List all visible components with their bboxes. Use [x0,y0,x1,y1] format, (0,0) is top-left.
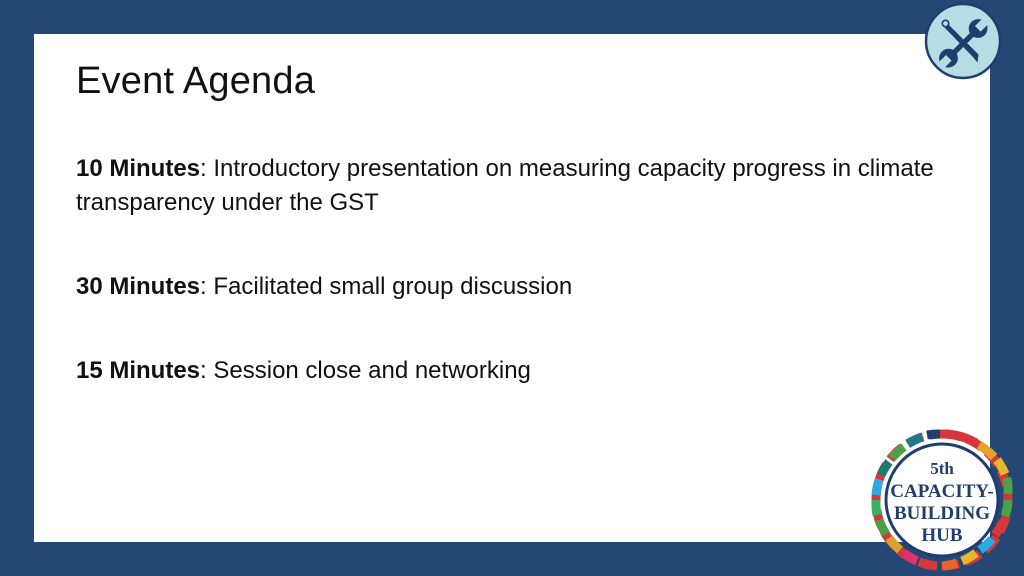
agenda-item-description: Session close and networking [213,357,531,384]
agenda-item-duration: 15 Minutes [76,357,200,384]
agenda-item: 15 Minutes: Session close and networking [76,354,956,388]
agenda-item: 10 Minutes: Introductory presentation on… [76,152,956,220]
agenda-item-duration: 10 Minutes [76,155,200,182]
agenda-list: 10 Minutes: Introductory presentation on… [76,152,956,388]
hub-logo-line-3: BUILDING [894,503,990,524]
agenda-item-separator: : [200,155,213,182]
agenda-item: 30 Minutes: Facilitated small group disc… [76,270,956,304]
agenda-item-description: Facilitated small group discussion [213,273,572,300]
slide-canvas: Event Agenda 10 Minutes: Introductory pr… [0,0,1024,576]
hub-logo-line-1: 5th [930,459,954,478]
hub-logo-line-4: HUB [921,525,963,546]
capacity-building-hub-logo: 5th CAPACITY- BUILDING HUB [866,424,1018,576]
agenda-item-duration: 30 Minutes [76,273,200,300]
agenda-item-separator: : [200,273,213,300]
agenda-item-separator: : [200,357,213,384]
hub-logo-line-2: CAPACITY- [890,481,993,502]
page-title: Event Agenda [76,60,315,103]
wrench-and-pencil-icon [924,2,1002,80]
